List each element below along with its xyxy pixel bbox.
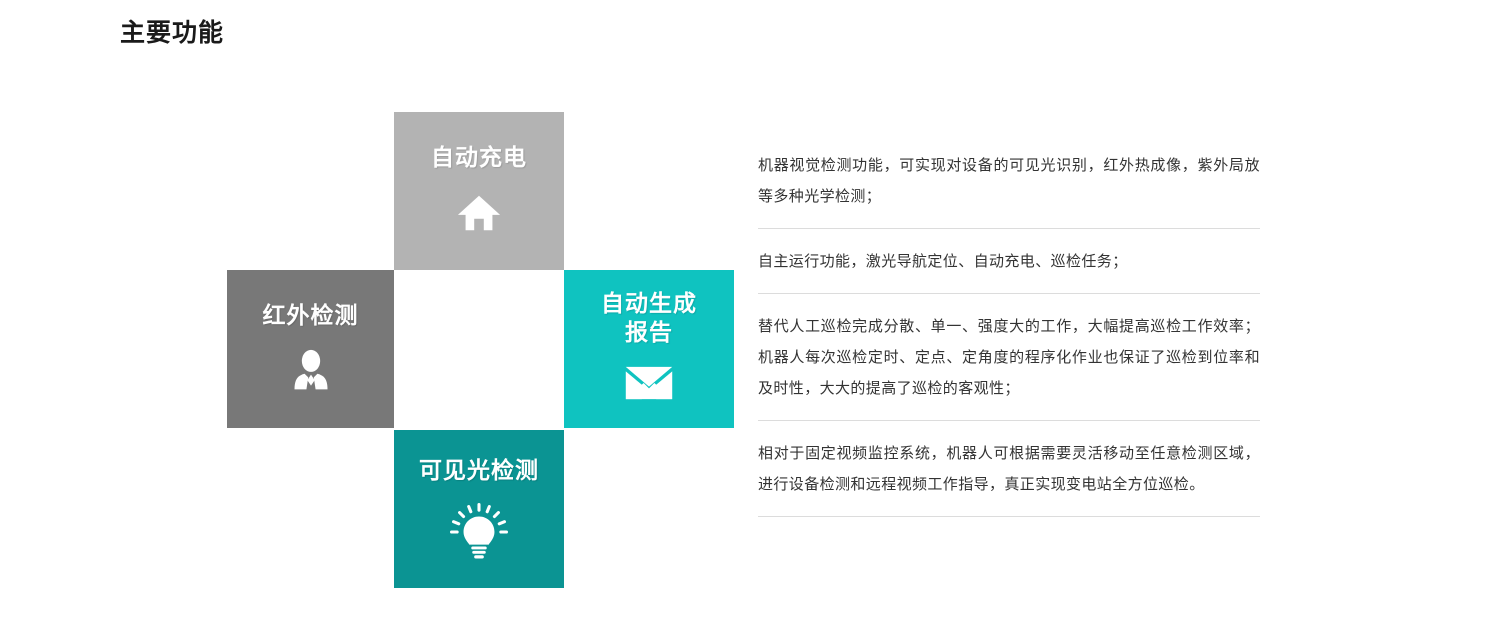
envelope-icon [623,357,675,409]
person-icon [285,345,337,397]
tile-auto-charging-label: 自动充电 [431,143,527,172]
tile-auto-report-label-line2: 报告 [601,318,697,347]
tile-infrared-detection[interactable]: 红外检测 [227,270,394,428]
home-icon [453,187,505,239]
tile-auto-charging[interactable]: 自动充电 [394,112,564,270]
feature-text-flexible-mobility: 相对于固定视频监控系统，机器人可根据需要灵活移动至任意检测区域，进行设备检测和远… [758,438,1260,500]
feature-tile-grid: 自动充电 红外检测 自动生成 报告 [227,112,734,588]
lightbulb-icon [449,502,509,562]
feature-description-list: 机器视觉检测功能，可实现对设备的可见光识别，红外热成像，紫外局放等多种光学检测；… [758,150,1260,517]
feature-item: 机器视觉检测功能，可实现对设备的可见光识别，红外热成像，紫外局放等多种光学检测； [758,150,1260,229]
tile-auto-report-label-line1: 自动生成 [601,289,697,318]
tile-infrared-detection-label: 红外检测 [263,301,359,330]
feature-text-machine-vision: 机器视觉检测功能，可实现对设备的可见光识别，红外热成像，紫外局放等多种光学检测； [758,150,1260,212]
feature-item: 自主运行功能，激光导航定位、自动充电、巡检任务； [758,246,1260,294]
feature-text-replace-manual-inspection: 替代人工巡检完成分散、单一、强度大的工作，大幅提高巡检工作效率；机器人每次巡检定… [758,311,1260,404]
page-title: 主要功能 [120,18,224,48]
tile-visible-light-detection-label: 可见光检测 [419,456,539,485]
tile-visible-light-detection[interactable]: 可见光检测 [394,430,564,588]
tile-auto-report-label: 自动生成 报告 [601,289,697,348]
feature-overview-page: 主要功能 自动充电 红外检测 [0,0,1500,639]
feature-text-autonomous-operation: 自主运行功能，激光导航定位、自动充电、巡检任务； [758,246,1260,277]
tile-auto-report[interactable]: 自动生成 报告 [564,270,734,428]
feature-item: 替代人工巡检完成分散、单一、强度大的工作，大幅提高巡检工作效率；机器人每次巡检定… [758,311,1260,421]
feature-item: 相对于固定视频监控系统，机器人可根据需要灵活移动至任意检测区域，进行设备检测和远… [758,438,1260,517]
